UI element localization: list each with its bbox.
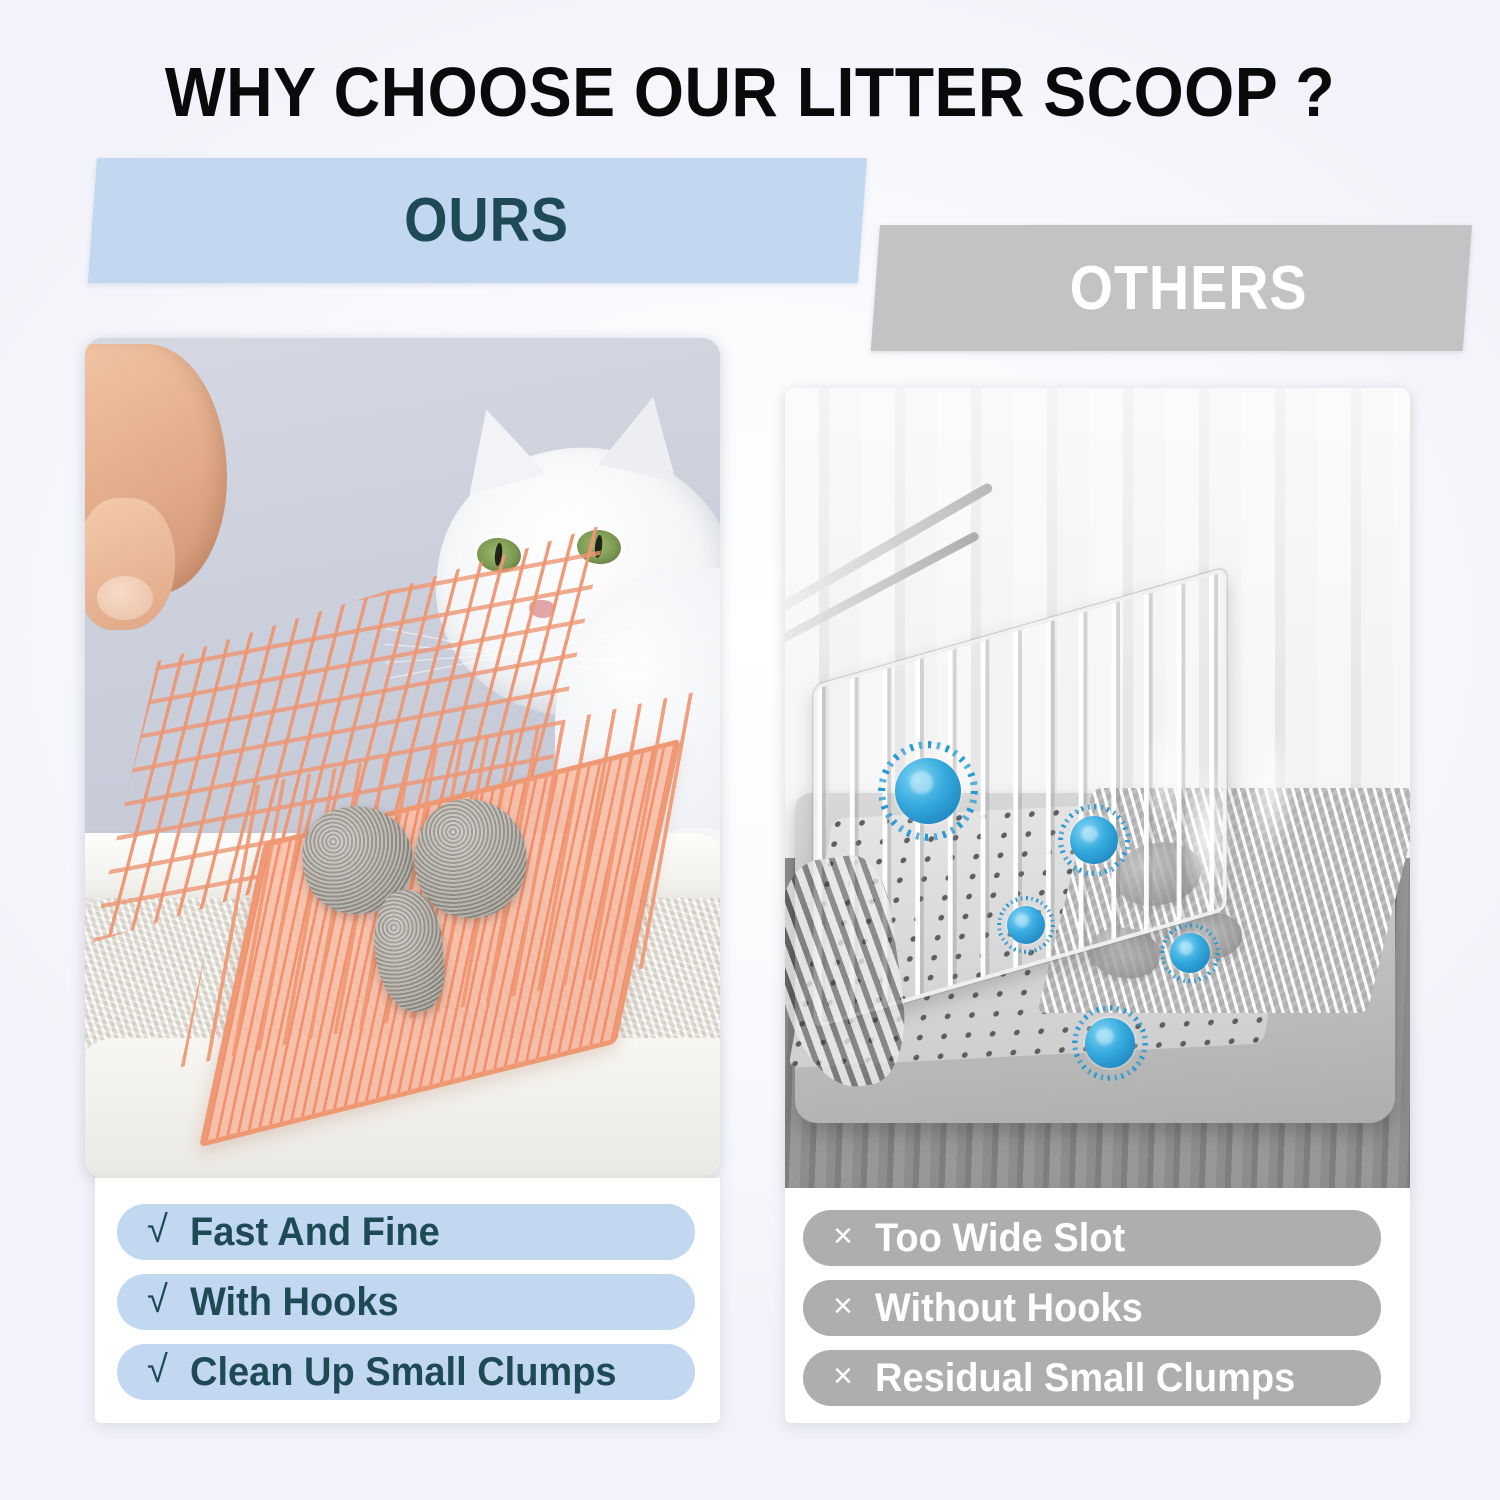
comparison-card-ours: √ Fast And Fine √ With Hooks √ Clean Up … — [85, 338, 720, 1423]
infographic-stage: WHY CHOOSE OUR LITTER SCOOP ? OURS OTHER… — [0, 0, 1500, 1500]
cross-icon: × — [833, 1359, 853, 1393]
thumb-nail — [97, 576, 153, 620]
germ-icon — [1007, 906, 1045, 944]
feature-pill-ours-2: √ With Hooks — [117, 1274, 695, 1330]
feature-label: Too Wide Slot — [875, 1216, 1125, 1261]
germ-icon — [1170, 933, 1210, 973]
feature-pill-others-1: × Too Wide Slot — [803, 1210, 1381, 1266]
cat-ear-right — [598, 389, 692, 482]
comparison-card-others: × Too Wide Slot × Without Hooks × Residu… — [785, 388, 1410, 1423]
check-icon: √ — [147, 1281, 168, 1319]
feature-label: Clean Up Small Clumps — [190, 1350, 617, 1395]
feature-pill-ours-3: √ Clean Up Small Clumps — [117, 1344, 695, 1400]
feature-list-others: × Too Wide Slot × Without Hooks × Residu… — [785, 1188, 1410, 1423]
banner-ours-label: OURS — [136, 158, 829, 283]
check-icon: √ — [147, 1351, 168, 1389]
feature-pill-others-3: × Residual Small Clumps — [803, 1350, 1381, 1406]
germ-highlight — [1081, 826, 1098, 842]
feature-label: Fast And Fine — [190, 1210, 440, 1255]
cross-icon: × — [833, 1219, 853, 1253]
feature-label: With Hooks — [190, 1280, 399, 1325]
feature-pill-others-2: × Without Hooks — [803, 1280, 1381, 1336]
germ-icon — [1085, 1018, 1135, 1068]
odor-steam — [1115, 688, 1345, 978]
rose-gold-scoop — [85, 548, 720, 1108]
banner-others: OTHERS — [880, 225, 1472, 351]
check-icon: √ — [147, 1211, 168, 1249]
germ-icon — [895, 758, 961, 824]
cross-icon: × — [833, 1289, 853, 1323]
banner-ours: OURS — [97, 158, 867, 283]
germ-highlight — [1096, 1028, 1114, 1045]
feature-label: Without Hooks — [875, 1286, 1143, 1331]
banner-others-label: OTHERS — [910, 225, 1443, 351]
germ-icon — [1070, 816, 1118, 864]
feature-label: Residual Small Clumps — [875, 1356, 1295, 1401]
page-title: WHY CHOOSE OUR LITTER SCOOP ? — [60, 52, 1440, 132]
product-photo-ours — [85, 338, 720, 1178]
feature-pill-ours-1: √ Fast And Fine — [117, 1204, 695, 1260]
germ-highlight — [1179, 941, 1193, 955]
product-photo-others — [785, 388, 1410, 1188]
feature-list-ours: √ Fast And Fine √ With Hooks √ Clean Up … — [95, 1178, 720, 1423]
germ-highlight — [1015, 914, 1029, 927]
germ-highlight — [910, 771, 934, 793]
